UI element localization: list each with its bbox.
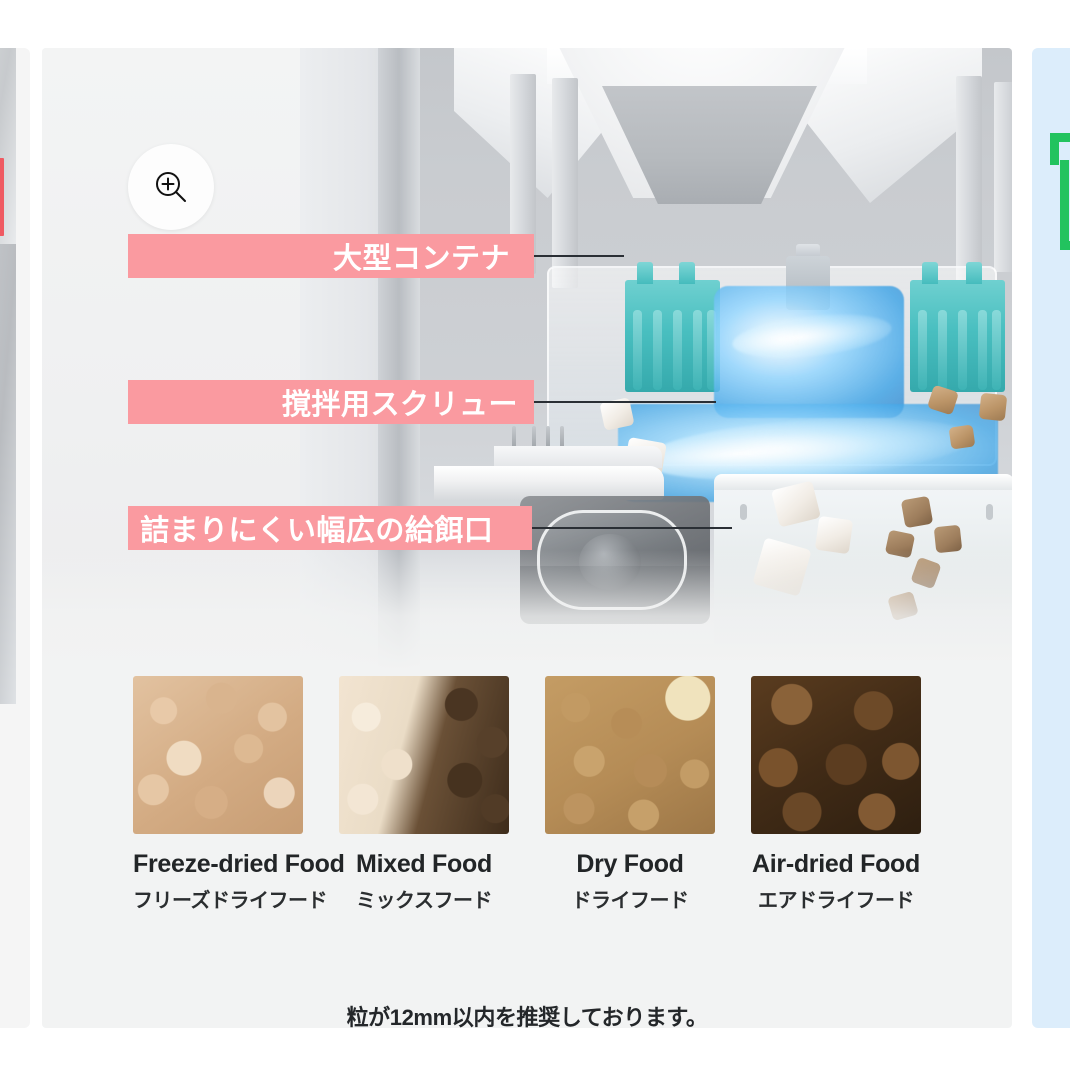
peek-shade-lower [0, 244, 16, 704]
next-slide-accent-body [1060, 160, 1070, 250]
freeze-dried-food-photo [133, 676, 303, 834]
product-image-carousel[interactable]: 大型コンテナ 撹拌用スクリュー 詰まりにくい幅広の給餌口 Freeze-drie… [0, 0, 1070, 1080]
falling-food-nugget [934, 525, 963, 554]
zoom-in-button[interactable] [128, 144, 214, 230]
image-bottom-fade [42, 550, 1012, 670]
agitator-paddle-left [625, 280, 720, 392]
callout-large-container: 大型コンテナ [128, 234, 624, 278]
food-type-item: Freeze-dried Food フリーズドライフード [133, 676, 303, 966]
food-type-name-en: Freeze-dried Food [133, 850, 303, 879]
callout-leader-line [534, 401, 716, 403]
chute-vent-hole [740, 504, 747, 520]
dry-food-photo [545, 676, 715, 834]
food-nugget [949, 424, 976, 449]
food-type-name-en: Air-dried Food [751, 850, 921, 879]
agitator-paddle-right [910, 280, 1005, 392]
food-type-item: Mixed Food ミックスフード [339, 676, 509, 966]
food-nugget [979, 393, 1008, 422]
kibble-size-note: 粒が12mm以内を推奨しております。 [42, 1000, 1012, 1028]
internal-shelf-upper [494, 446, 662, 468]
food-type-name-en: Mixed Food [339, 850, 509, 879]
air-dried-food-photo [751, 676, 921, 834]
food-type-name-jp: ドライフード [545, 884, 715, 913]
chute-vent-hole [986, 504, 993, 520]
callout-label: 詰まりにくい幅広の給餌口 [128, 506, 532, 550]
feeding-chute-lip [714, 474, 1012, 490]
falling-food-nugget [901, 496, 933, 528]
carousel-slide-next[interactable] [1032, 48, 1070, 1028]
chamber-rib [994, 82, 1012, 272]
callout-leader-line [532, 527, 732, 529]
product-cutaway-image [42, 48, 1012, 670]
food-type-name-jp: ミックスフード [339, 884, 509, 913]
callout-stirring-screw: 撹拌用スクリュー [128, 380, 716, 424]
carousel-slide-current[interactable]: 大型コンテナ 撹拌用スクリュー 詰まりにくい幅広の給餌口 Freeze-drie… [42, 48, 1012, 1028]
food-type-item: Air-dried Food エアドライフード [751, 676, 921, 966]
callout-wide-feeding-port: 詰まりにくい幅広の給餌口 [128, 506, 732, 550]
callout-label: 撹拌用スクリュー [128, 380, 534, 424]
food-type-name-en: Dry Food [545, 850, 715, 879]
callout-label: 大型コンテナ [128, 234, 534, 278]
zoom-in-magnifier-icon [151, 167, 191, 207]
mixed-food-photo [339, 676, 509, 834]
carousel-slide-previous[interactable] [0, 48, 30, 1028]
chamber-rib [956, 76, 982, 281]
callout-leader-line [534, 255, 624, 257]
food-type-name-jp: エアドライフード [751, 884, 921, 913]
supported-food-types: Freeze-dried Food フリーズドライフード Mixed Food … [42, 676, 1012, 966]
previous-slide-accent [0, 158, 4, 236]
internal-shelf [434, 466, 664, 500]
food-type-item: Dry Food ドライフード [545, 676, 715, 966]
falling-food-nugget [815, 516, 853, 554]
food-type-name-jp: フリーズドライフード [133, 884, 303, 913]
